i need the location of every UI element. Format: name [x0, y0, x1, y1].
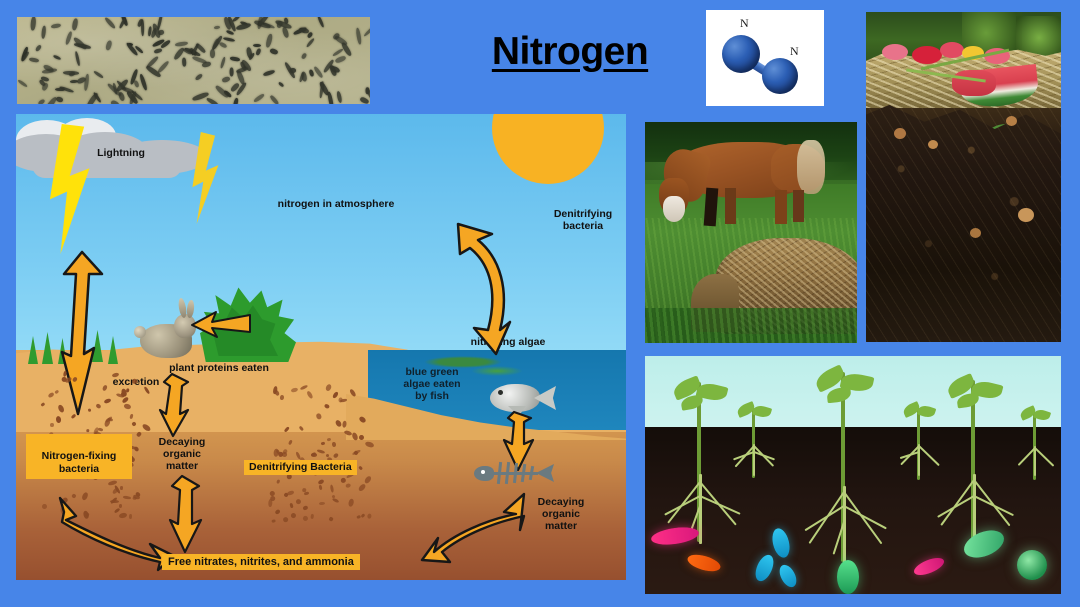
nitrogen-molecule-image: N N — [706, 10, 824, 106]
bacteria-speck — [284, 427, 290, 433]
bacteria-speck — [319, 501, 326, 505]
bacterium-rod — [30, 17, 36, 31]
label-denitrifying-bacteria-soil: Denitrifying Bacteria — [244, 460, 357, 475]
compost-heap-photo — [866, 12, 1061, 342]
bacteria-speck — [40, 402, 45, 407]
bacterium-rod — [230, 56, 241, 61]
bacteria-speck — [326, 453, 330, 457]
bacterium-rod — [53, 54, 62, 60]
bacterium-rod — [206, 97, 219, 104]
bacterium-rod — [269, 94, 279, 104]
bacteria-speck — [50, 423, 54, 427]
bacterium-rod — [317, 17, 325, 29]
slide-canvas: Nitrogen N N Lightning nit — [0, 0, 1080, 607]
bacteria-speck — [299, 425, 304, 431]
bacterium-rod — [313, 66, 323, 79]
bacteria-speck — [63, 370, 68, 377]
horse-manure-photo — [645, 122, 857, 343]
bacteria-speck — [306, 391, 313, 400]
bacterium-rod — [140, 20, 144, 37]
bacteria-speck — [101, 384, 107, 391]
bacteria-speck — [364, 441, 374, 449]
bacteria-speck — [55, 416, 61, 424]
bacteria-speck — [42, 504, 47, 509]
bacteria-speck — [361, 513, 366, 518]
bacteria-speck — [290, 513, 296, 519]
bacteria-speck — [332, 442, 336, 447]
bacterium-rod — [363, 24, 370, 38]
bacterium-rod — [265, 33, 273, 48]
bacterium-rod — [221, 76, 230, 83]
bacteria-speck — [326, 438, 331, 442]
bacterium-rod — [71, 18, 78, 31]
bacteria-speck — [351, 432, 358, 441]
bacteria-speck — [131, 378, 138, 385]
bacterium-rod — [229, 67, 233, 76]
bacterium-rod — [74, 51, 80, 66]
bacterium-rod — [54, 88, 64, 92]
bacteria-speck — [324, 383, 332, 392]
bacteria-speck — [350, 388, 357, 397]
atom-label-right: N — [790, 44, 799, 59]
bacteria-speck — [358, 415, 366, 423]
nitrogen-cycle-diagram: Lightning nitrogen in atmosphere Denitri… — [16, 114, 626, 580]
bacteria-speck — [111, 372, 119, 378]
label-blue-green-algae: blue green algae eaten by fish — [392, 366, 472, 402]
bacterium-rod — [29, 57, 40, 63]
bacteria-speck — [72, 376, 78, 382]
nitrogen-atom-right — [762, 58, 798, 94]
bacterium-rod — [175, 41, 189, 47]
bacteria-speck — [95, 403, 101, 409]
bacteria-speck — [317, 479, 324, 485]
bacterium-rod — [210, 49, 215, 58]
bacterium-rod — [214, 26, 220, 30]
bacteria-micrograph-image — [17, 17, 370, 104]
bacterium-rod — [327, 91, 335, 104]
bacteria-speck — [323, 404, 329, 409]
bacteria-speck — [88, 409, 91, 413]
bacterium-rod — [253, 93, 265, 103]
bacteria-speck — [57, 404, 65, 413]
soil-bacteria-photo — [645, 356, 1061, 594]
bacteria-speck — [341, 478, 346, 483]
atom-label-left: N — [740, 16, 749, 31]
bacteria-speck — [329, 485, 333, 493]
bacteria-speck — [316, 413, 323, 420]
bacteria-speck — [332, 497, 340, 503]
bacteria-speck — [120, 486, 124, 490]
bacterium-rod — [219, 42, 228, 50]
bacterium-rod — [336, 91, 343, 104]
nitrogen-atom-left — [722, 35, 760, 73]
bacteria-speck — [287, 490, 295, 496]
label-lightning: Lightning — [86, 147, 156, 159]
bacterium-rod — [219, 57, 226, 70]
bacteria-speck — [352, 450, 361, 457]
bacteria-speck — [288, 440, 293, 446]
bacteria-speck — [131, 421, 137, 427]
bacteria-speck — [136, 431, 142, 437]
bacterium-rod — [255, 48, 261, 56]
label-nitrogen-in-atmosphere: nitrogen in atmosphere — [261, 198, 411, 210]
label-denitrifying-bacteria-air: Denitrifying bacteria — [540, 208, 626, 232]
bacteria-speck — [86, 429, 89, 433]
bacteria-speck — [358, 465, 363, 470]
bacterium-rod — [252, 43, 261, 46]
bacteria-speck — [338, 397, 343, 403]
bacterium-green-round — [1017, 550, 1047, 580]
arrow-excretion — [158, 372, 192, 438]
bacterium-rod — [236, 22, 252, 31]
bacteria-speck — [342, 420, 347, 428]
label-decaying-organic-matter-left: Decaying organic matter — [144, 436, 220, 472]
bacteria-speck — [303, 505, 309, 511]
bacteria-speck — [347, 498, 354, 507]
label-nitrogen-fixing-bacteria: Nitrogen-fixing bacteria — [26, 434, 132, 479]
bacteria-speck — [328, 517, 333, 523]
soil-bacteria-cluster-middle — [266, 382, 376, 522]
bacteria-speck — [47, 392, 54, 399]
bacterium-rod — [232, 98, 238, 104]
bacterium-rod — [104, 17, 117, 30]
bacterium-rod — [65, 31, 74, 46]
bacteria-speck — [303, 491, 308, 495]
bacterium-rod — [111, 99, 120, 104]
bacteria-speck — [290, 387, 298, 393]
bacteria-speck — [321, 442, 325, 446]
bacterium-rod — [138, 73, 147, 90]
fish-skeleton-shape — [474, 460, 556, 494]
bacteria-speck — [316, 449, 324, 454]
bacteria-speck — [277, 479, 281, 484]
bacteria-speck — [130, 414, 134, 419]
bacteria-speck — [283, 516, 289, 522]
bacterium-rod — [300, 53, 307, 60]
bacterium-rod — [236, 66, 249, 73]
bacterium-green-center — [837, 560, 859, 594]
bacteria-speck — [299, 384, 307, 390]
bacterium-rod — [38, 98, 47, 104]
bacteria-speck — [310, 515, 314, 520]
bacteria-speck — [279, 395, 283, 400]
bacterium-rod — [194, 73, 203, 81]
bacterium-rod — [262, 69, 275, 77]
bacteria-speck — [71, 414, 77, 420]
bacteria-speck — [123, 403, 131, 409]
page-title: Nitrogen — [440, 32, 700, 71]
bacterium-rod — [133, 80, 139, 88]
bacterium-rod — [41, 26, 46, 40]
bacteria-speck — [268, 498, 272, 507]
bacterium-rod — [55, 97, 63, 104]
arrow-atmosphere-to-water — [448, 218, 528, 358]
bacteria-speck — [345, 483, 351, 488]
arrow-plant-proteins-eaten — [190, 310, 252, 340]
label-decaying-organic-matter-right: Decaying organic matter — [522, 496, 600, 532]
bacteria-speck — [364, 475, 373, 485]
bacterium-rod — [223, 37, 235, 43]
bacteria-speck — [290, 503, 295, 509]
bacterium-rod — [105, 40, 113, 51]
bacteria-speck — [103, 398, 111, 404]
bacterium-rod — [335, 55, 347, 63]
bacteria-speck — [275, 509, 281, 515]
bacteria-speck — [333, 453, 339, 459]
bacterium-rod — [306, 37, 316, 48]
bacteria-speck — [358, 483, 367, 492]
bacterium-rod — [154, 48, 162, 54]
bacterium-rod — [359, 96, 369, 104]
bacterium-rod — [182, 58, 186, 67]
bacteria-speck — [319, 484, 323, 490]
bacterium-rod — [290, 68, 297, 73]
bacteria-speck — [367, 514, 372, 520]
bacteria-speck — [144, 386, 151, 394]
bacterium-rod — [51, 23, 61, 29]
bacterium-rod — [93, 70, 104, 79]
arrow-nfix-to-nitrates — [54, 492, 178, 572]
bacteria-speck — [295, 499, 302, 506]
bacterium-rod — [62, 71, 78, 76]
bacterium-rod — [34, 44, 42, 52]
arrow-decay-to-nitrates-right — [420, 490, 530, 566]
bacterium-rod — [278, 81, 285, 88]
bacteria-speck — [334, 420, 342, 429]
algae-patch-small — [471, 366, 523, 376]
bacterium-rod — [270, 48, 279, 55]
label-free-nitrates: Free nitrates, nitrites, and ammonia — [162, 554, 360, 570]
bacteria-speck — [302, 515, 309, 522]
bacterium-rod — [17, 79, 28, 88]
bacterium-rod — [355, 28, 362, 46]
bacteria-speck — [359, 435, 364, 440]
bacteria-speck — [133, 445, 139, 451]
